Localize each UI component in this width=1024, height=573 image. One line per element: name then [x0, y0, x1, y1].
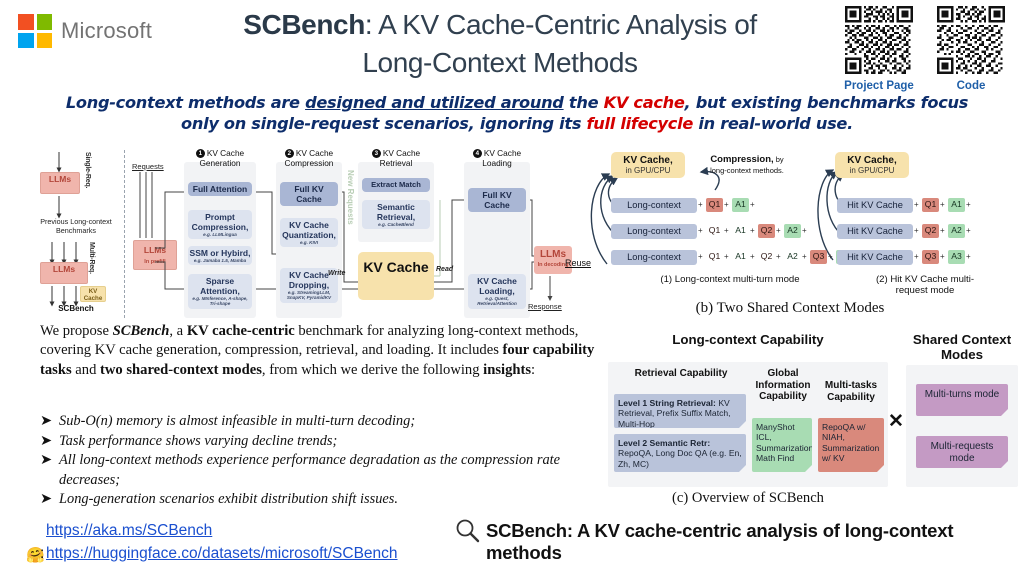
stage-kv-cache-compression: 2KV Cache Compression Full KV Cache KV C…: [276, 162, 342, 318]
kv-cache-left-sub: in GPU/CPU: [617, 166, 679, 175]
hit-a3: A3: [948, 250, 965, 264]
new-requests-label: New Requests: [346, 170, 355, 225]
bullet-arrow-icon: ➤: [40, 432, 53, 452]
multi-req-label: Multi-Req.: [88, 242, 95, 274]
panel-a-pipeline-diagram: Single-Req. LLMs Previous Long-context B…: [32, 148, 572, 320]
single-req-label: Single-Req.: [84, 152, 91, 188]
tagline-part-2: the: [564, 93, 604, 112]
footer-caption: SCBench: A KV cache-centric analysis of …: [486, 520, 1024, 564]
title-prefix: SCBench: [243, 9, 365, 40]
node-semantic-retrieval[interactable]: Semantic Retrieval, e.g. CacheBlend: [362, 200, 430, 229]
reuse-label: Reuse: [565, 258, 591, 268]
panel-b-right-caption-l1: (2) Hit KV Cache multi-: [845, 274, 1005, 285]
list-item: ➤ All long-context methods experience pe…: [40, 451, 606, 490]
panel-b-right-caption-l2: request mode: [845, 285, 1005, 296]
turn-q1-row3: Q1: [706, 250, 723, 264]
compression-note: Compression, by long-context methods.: [693, 154, 801, 176]
plus-icon: +: [802, 250, 807, 264]
plus-icon: +: [698, 250, 703, 264]
panel-c-overview: Long-context Capability Shared Context M…: [600, 332, 1024, 522]
qr-project-page[interactable]: Project Page: [842, 6, 916, 92]
plus-icon: +: [940, 250, 945, 264]
hit-q3: Q3: [922, 250, 939, 264]
bullet-arrow-icon: ➤: [40, 490, 53, 510]
para-d: and: [72, 362, 100, 378]
retrieval-capability-subtitle: Retrieval Capability: [614, 368, 748, 380]
insight-text: All long-context methods experience perf…: [59, 451, 606, 490]
huggingface-dataset-link[interactable]: https://huggingface.co/datasets/microsof…: [46, 545, 398, 563]
node-kv-cache-quantization[interactable]: KV Cache Quantization, e.g. KIVI: [280, 218, 338, 247]
write-label: Write: [328, 270, 345, 277]
card-level-2-semantic-retrieval[interactable]: Level 2 Semantic Retr: RepoQA, Long Doc …: [614, 434, 746, 472]
long-context-row-3: Long-context: [611, 250, 697, 265]
compression-sub: long-context methods.: [693, 165, 801, 176]
mode-2-text: Multi-requests mode: [931, 441, 994, 464]
card-multi-requests-mode[interactable]: Multi-requests mode: [916, 436, 1008, 468]
long-context-capability-title: Long-context Capability: [608, 332, 888, 347]
para-a: We propose: [40, 323, 113, 339]
node-prompt-compression-label: Prompt Compression,: [192, 212, 249, 232]
node-quantization-label: KV Cache Quantization,: [282, 220, 336, 240]
insights-list: ➤ Sub-O(n) memory is almost infeasible i…: [40, 412, 606, 510]
plus-icon: +: [966, 198, 971, 212]
stage-1-title: KV Cache Generation: [199, 148, 244, 168]
node-full-kv-cache-loading[interactable]: Full KV Cache: [468, 188, 526, 212]
stage-kv-cache-retrieval: 3KV Cache Retrieval Extract Match Semant…: [358, 162, 434, 242]
node-sparse-attention[interactable]: Sparse Attention, e.g. MInference, A-sha…: [188, 274, 252, 309]
stage-4-number: 4: [473, 149, 482, 158]
llms-decoding-title: LLMs: [540, 249, 566, 260]
plus-icon: +: [914, 250, 919, 264]
kv-cache-right-title: KV Cache,: [841, 155, 903, 166]
tagline-highlight-lifecycle: full lifecycle: [587, 114, 694, 133]
card-multi-tasks[interactable]: RepoQA w/ NIAH, Summarization w/ KV: [818, 418, 884, 472]
plus-icon: +: [698, 224, 703, 238]
kv-cache-gpu-cpu-right: KV Cache, in GPU/CPU: [835, 152, 909, 178]
para-b: , a: [169, 323, 186, 339]
plus-icon: +: [966, 250, 971, 264]
long-context-row-1: Long-context: [611, 198, 697, 213]
hit-kv-cache-row-1: Hit KV Cache: [837, 198, 913, 213]
turn-q2-row3: Q2: [758, 250, 775, 264]
bullet-arrow-icon: ➤: [40, 451, 53, 490]
node-prompt-compression-eg: e.g. LLMLingua: [189, 232, 251, 237]
title-rest: : A KV Cache-Centric Analysis of: [365, 9, 757, 40]
plus-icon: +: [940, 198, 945, 212]
qr-code-group: Project Page: [842, 6, 1008, 92]
turn-q1-row1: Q1: [706, 198, 723, 212]
times-operator-icon: ✕: [888, 410, 904, 433]
long-context-row-2: Long-context: [611, 224, 697, 239]
plus-icon: +: [914, 224, 919, 238]
page-title: SCBench: A KV Cache-Centric Analysis of …: [180, 6, 820, 82]
stage-3-title: KV Cache Retrieval: [380, 148, 421, 168]
tagline-part-1: Long-context methods are: [66, 93, 305, 112]
panel-b-shared-context-modes: KV Cache, in GPU/CPU Compression, by lon…: [565, 148, 1015, 323]
shared-context-modes-title: Shared Context Modes: [900, 332, 1024, 362]
llms-prefill-sub: In prefill: [134, 256, 176, 268]
shared-context-modes-panel: [906, 365, 1018, 487]
insight-text: Long-generation scenarios exhibit distri…: [59, 490, 398, 510]
tagline-underlined: designed and utilized around: [305, 93, 564, 112]
hit-q1: Q1: [922, 198, 939, 212]
turn-q3-row3: Q3: [810, 250, 827, 264]
body-paragraph: We propose SCBench, a KV cache-centric b…: [40, 322, 606, 380]
microsoft-logo: Microsoft: [18, 14, 152, 48]
turn-a1-row2: A1: [732, 224, 749, 238]
project-page-link[interactable]: https://aka.ms/SCBench: [46, 522, 212, 540]
microsoft-wordmark: Microsoft: [61, 18, 152, 44]
compression-title: Compression,: [710, 154, 773, 165]
level2-bold: Level 2 Semantic Retr:: [618, 438, 710, 448]
plus-icon: +: [750, 250, 755, 264]
node-full-attention[interactable]: Full Attention: [188, 182, 252, 196]
node-kv-cache-loading[interactable]: KV Cache Loading, e.g. Quest, RetrievalA…: [468, 274, 526, 309]
global-information-capability-subtitle: Global Information Capability: [752, 368, 814, 403]
stage-1-header: 1KV Cache Generation: [184, 149, 256, 168]
poster-header: Microsoft SCBench: A KV Cache-Centric An…: [0, 0, 1024, 92]
global-card-text: ManyShot ICL, Summarization, Math Find: [756, 422, 816, 463]
stage-2-header: 2KV Cache Compression: [276, 149, 342, 168]
node-sparse-attention-eg: e.g. MInference, A-shape, Tri-shape: [189, 296, 251, 307]
plus-icon: +: [776, 250, 781, 264]
stage-3-header: 3KV Cache Retrieval: [358, 149, 434, 168]
mini-llms-multi: LLMs: [40, 262, 88, 284]
turn-q1-row2: Q1: [706, 224, 723, 238]
stage-kv-cache-generation: 1KV Cache Generation Full Attention Prom…: [184, 162, 256, 318]
node-loading-label: KV Cache Loading,: [477, 276, 517, 296]
hit-q2: Q2: [922, 224, 939, 238]
requests-label: Requests: [132, 162, 164, 171]
hit-kv-cache-row-3: Hit KV Cache: [837, 250, 913, 265]
insight-text: Sub-O(n) memory is almost infeasible in …: [59, 412, 415, 432]
kv-cache-right-sub: in GPU/CPU: [841, 166, 903, 175]
bullet-arrow-icon: ➤: [40, 412, 53, 432]
hit-kv-cache-row-2: Hit KV Cache: [837, 224, 913, 239]
plus-icon: +: [698, 198, 703, 212]
para-f: :: [531, 362, 535, 378]
hf-colon: :: [40, 545, 44, 563]
list-item: ➤ Sub-O(n) memory is almost infeasible i…: [40, 412, 606, 432]
plus-icon: +: [828, 250, 833, 264]
card-global-information[interactable]: ManyShot ICL, Summarization, Math Find: [752, 418, 812, 472]
list-item: ➤ Long-generation scenarios exhibit dist…: [40, 490, 606, 510]
node-quantization-eg: e.g. KIVI: [281, 240, 337, 245]
plus-icon: +: [940, 224, 945, 238]
turn-a1-row3: A1: [732, 250, 749, 264]
plus-icon: +: [750, 224, 755, 238]
response-label: Response: [528, 302, 562, 311]
node-semantic-retrieval-eg: e.g. CacheBlend: [363, 222, 429, 227]
kv-cache-center-box[interactable]: KV Cache: [358, 252, 434, 300]
read-label: Read: [436, 266, 453, 273]
qr-project-page-label: Project Page: [842, 80, 916, 92]
turn-a2-row2: A2: [784, 224, 801, 238]
mini-kv-cache-box: KV Cache: [80, 286, 106, 302]
stage-4-title: KV Cache Loading: [482, 148, 521, 168]
qr-code-repo[interactable]: Code: [934, 6, 1008, 92]
diagram-divider: [124, 150, 125, 318]
level2-text: RepoQA, Long Doc QA (e.g. En, Zh, MC): [618, 448, 742, 468]
list-item: ➤ Task performance shows varying decline…: [40, 432, 606, 452]
node-sparse-attention-label: Sparse Attention,: [200, 276, 240, 296]
node-full-kv-cache-compression[interactable]: Full KV Cache: [280, 182, 338, 206]
tagline-part-4: in real-world use.: [693, 114, 853, 133]
node-ssm-label: SSM or Hybird,: [190, 248, 251, 258]
search-icon: [455, 518, 481, 544]
level1-bold: Level 1 String Retrieval:: [618, 398, 716, 408]
qr-code-label: Code: [934, 80, 1008, 92]
compression-by: by: [774, 155, 784, 164]
multi-tasks-capability-subtitle: Multi-tasks Capability: [818, 380, 884, 403]
panel-c-caption: (c) Overview of SCBench: [608, 490, 888, 507]
plus-icon: +: [802, 224, 807, 238]
llms-prefill-title: LLMs: [144, 245, 166, 255]
microsoft-logo-icon: [18, 14, 52, 48]
mini-llms-single: LLMs: [40, 172, 80, 194]
para-e: , from which we derive the following: [262, 362, 483, 378]
plus-icon: +: [914, 198, 919, 212]
hit-a2: A2: [948, 224, 965, 238]
para-insights: insights: [483, 362, 531, 378]
node-dropping-eg: e.g. StreamingLLM, SnapKV, PyramidKV: [281, 290, 337, 301]
kv-cache-left-title: KV Cache,: [617, 155, 679, 166]
llms-in-prefill-box: LLMs In prefill: [133, 240, 177, 270]
panel-b-title: (b) Two Shared Context Modes: [565, 300, 1015, 317]
previous-benchmarks-column: Single-Req. LLMs Previous Long-context B…: [32, 150, 120, 316]
node-ssm-eg: e.g. Jamaba 1.5, Mamba: [189, 258, 251, 263]
para-scbench: SCBench: [113, 323, 170, 339]
plus-icon: +: [724, 198, 729, 212]
para-two-modes: two shared-context modes: [100, 362, 262, 378]
mode-1-text: Multi-turns mode: [925, 389, 999, 400]
qr-code-icon[interactable]: [842, 6, 916, 74]
node-loading-eg: e.g. Quest, RetrievalAttention: [469, 296, 525, 307]
previous-benchmarks-caption: Previous Long-context Benchmarks: [32, 218, 120, 235]
qr-code-icon[interactable]: [934, 6, 1008, 74]
tagline-highlight-kv-cache: KV cache: [604, 93, 685, 112]
plus-icon: +: [776, 224, 781, 238]
card-level-1-string-retrieval[interactable]: Level 1 String Retrieval: KV Retrieval, …: [614, 394, 746, 428]
node-dropping-label: KV Cache Dropping,: [289, 270, 329, 290]
plus-icon: +: [966, 224, 971, 238]
poster-tagline: Long-context methods are designed and ut…: [52, 92, 982, 134]
panel-b-right-caption: (2) Hit KV Cache multi- request mode: [845, 274, 1005, 296]
insight-text: Task performance shows varying decline t…: [59, 432, 337, 452]
turn-a1-row1: A1: [732, 198, 749, 212]
node-ssm-or-hybrid[interactable]: SSM or Hybird, e.g. Jamaba 1.5, Mamba: [188, 246, 252, 265]
panel-b-left-caption: (1) Long-context multi-turn mode: [605, 274, 855, 285]
plus-icon: +: [724, 250, 729, 264]
stage-4-header: 4KV Cache Loading: [464, 149, 530, 168]
kv-cache-gpu-cpu-left: KV Cache, in GPU/CPU: [611, 152, 685, 178]
turn-q2-row2: Q2: [758, 224, 775, 238]
para-kv-cache-centric: KV cache-centric: [187, 323, 295, 339]
node-semantic-retrieval-label: Semantic Retrieval,: [377, 202, 415, 222]
title-line-2: Long-Context Methods: [180, 44, 820, 82]
card-multi-turns-mode[interactable]: Multi-turns mode: [916, 384, 1008, 416]
node-extract-match[interactable]: Extract Match: [362, 178, 430, 192]
node-prompt-compression[interactable]: Prompt Compression, e.g. LLMLingua: [188, 210, 252, 239]
hit-a1: A1: [948, 198, 965, 212]
plus-icon: +: [724, 224, 729, 238]
plus-icon: +: [750, 198, 755, 212]
multi-card-text: RepoQA w/ NIAH, Summarization w/ KV: [822, 422, 879, 463]
turn-a2-row3: A2: [784, 250, 801, 264]
stage-kv-cache-loading: 4KV Cache Loading Full KV Cache KV Cache…: [464, 162, 530, 318]
scbench-caption: SCBench: [32, 304, 120, 313]
